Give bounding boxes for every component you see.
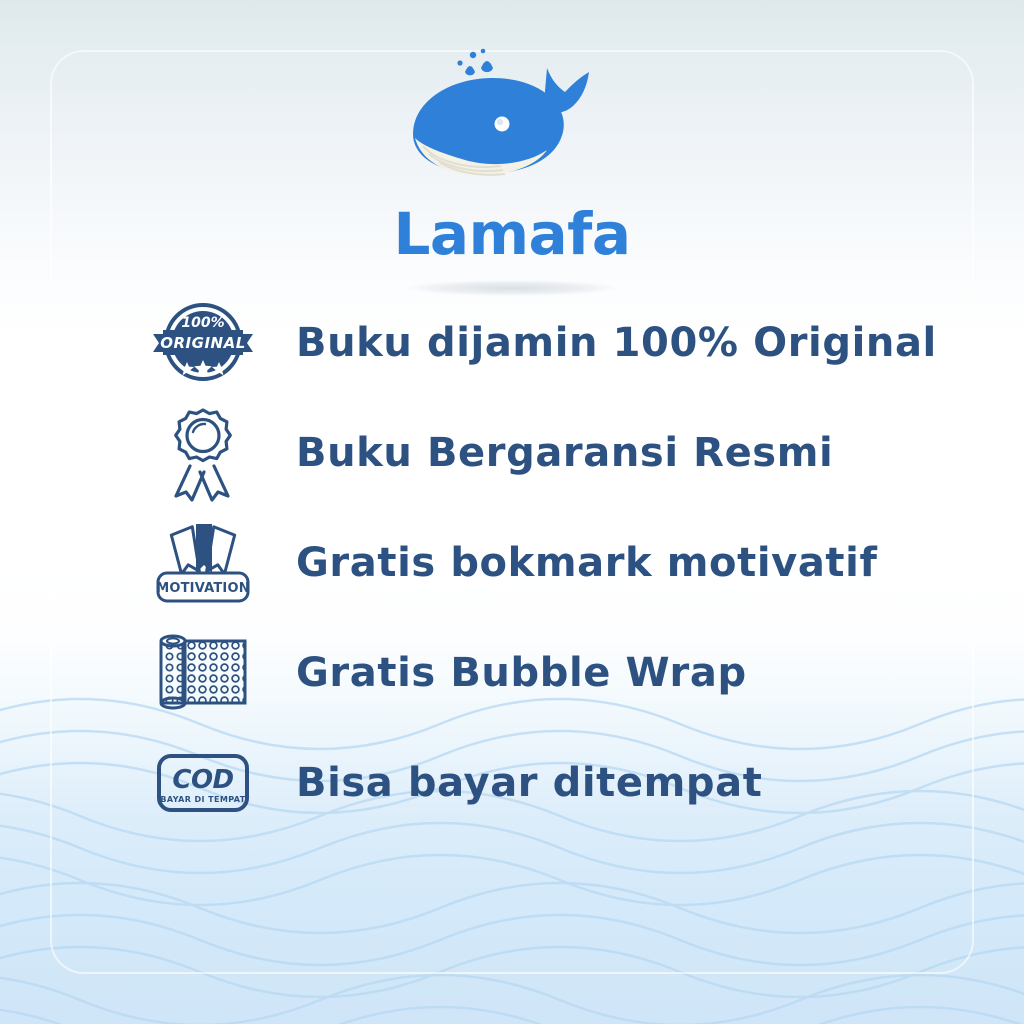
bubble-wrap-icon (150, 623, 256, 723)
feature-label: Gratis bokmark motivatif (296, 540, 877, 586)
brand-logo-block: Lamafa (0, 46, 1024, 296)
feature-label: Gratis Bubble Wrap (296, 650, 747, 696)
original-stamp-icon: 100% ORIGINAL (150, 293, 256, 393)
feature-label: Buku Bergaransi Resmi (296, 430, 833, 476)
feature-row: COD BAYAR DI TEMPAT Bisa bayar ditempat (150, 728, 910, 838)
feature-row: 100% ORIGINAL Buku dijamin 100% Original (150, 288, 910, 398)
bookmark-label-text: MOTIVATION (156, 581, 250, 596)
feature-row: MOTIVATION Gratis bokmark motivatif (150, 508, 910, 618)
feature-label: Bisa bayar ditempat (296, 760, 762, 806)
brand-wordmark: Lamafa (393, 200, 630, 268)
cod-badge-subtext: BAYAR DI TEMPAT (160, 795, 245, 804)
original-stamp-percent: 100% (181, 315, 224, 331)
bookmark-icon: MOTIVATION (150, 513, 256, 613)
cod-badge-text: COD (172, 765, 233, 795)
feature-row: Gratis Bubble Wrap (150, 618, 910, 728)
award-rosette-icon (150, 403, 256, 503)
whale-icon (397, 46, 627, 206)
promo-poster: Lamafa 100% ORIGINAL (0, 0, 1024, 1024)
feature-label: Buku dijamin 100% Original (296, 320, 937, 366)
feature-list: 100% ORIGINAL Buku dijamin 100% Original (150, 288, 910, 838)
original-stamp-word: ORIGINAL (160, 334, 246, 352)
feature-row: Buku Bergaransi Resmi (150, 398, 910, 508)
cod-badge-icon: COD BAYAR DI TEMPAT (150, 733, 256, 833)
